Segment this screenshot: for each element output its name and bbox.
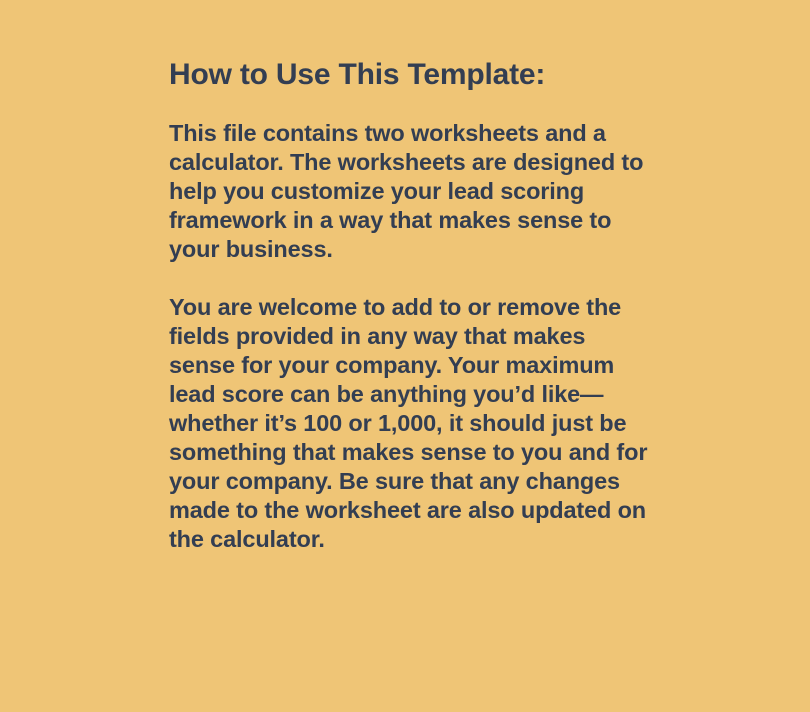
instructions-content: How to Use This Template: This file cont… — [169, 58, 651, 554]
customization-paragraph: You are welcome to add to or remove the … — [169, 293, 651, 554]
intro-paragraph: This file contains two worksheets and a … — [169, 119, 651, 264]
page-title: How to Use This Template: — [169, 58, 651, 92]
template-instructions-page: How to Use This Template: This file cont… — [0, 0, 810, 712]
